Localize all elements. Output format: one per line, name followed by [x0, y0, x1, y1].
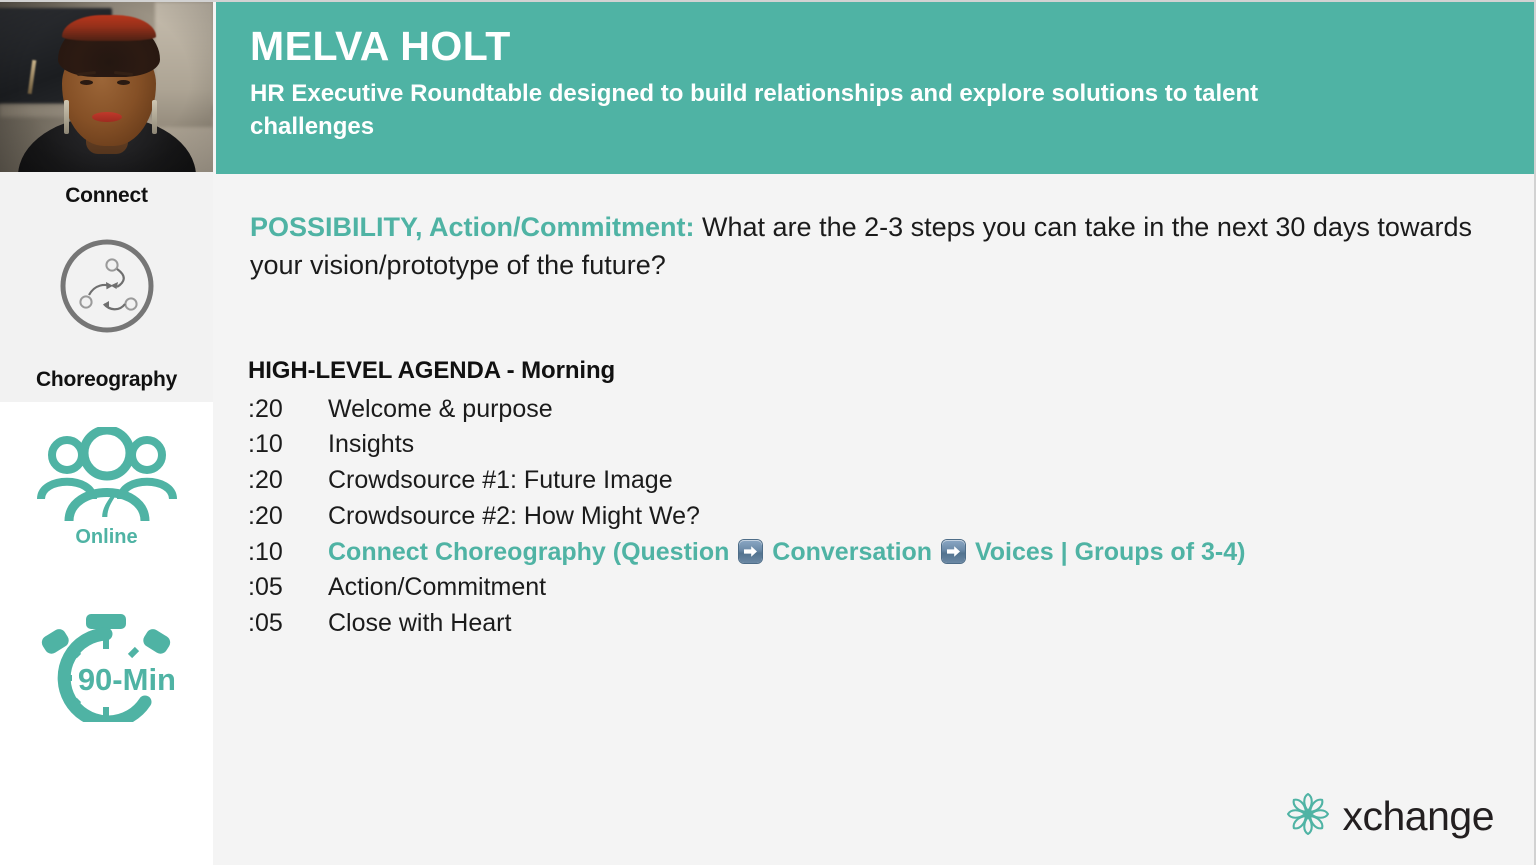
choreography-label: Choreography — [36, 368, 177, 392]
prompt-lead-label: POSSIBILITY, Action/Commitment: — [250, 212, 695, 242]
sidebar-connect-choreography-block: Connect Choreography — [0, 172, 213, 402]
sidebar-online-count-block: 7 Online — [0, 427, 213, 549]
agenda-row: :05Action/Commitment — [248, 570, 1534, 606]
agenda-row: :10Connect Choreography (Question Conver… — [248, 535, 1534, 571]
session-subtitle: HR Executive Roundtable designed to buil… — [250, 78, 1370, 143]
prompt-question: POSSIBILITY, Action/Commitment: What are… — [250, 208, 1495, 285]
agenda-row-time: :10 — [248, 427, 328, 463]
agenda-row-time: :20 — [248, 392, 328, 428]
right-arrow-icon — [739, 540, 762, 563]
right-arrow-icon — [942, 540, 965, 563]
agenda-row-label: Crowdsource #1: Future Image — [328, 463, 673, 499]
xchange-logo: xchange — [1286, 792, 1494, 841]
sidebar: Connect Choreography — [0, 2, 213, 865]
xchange-wordmark: xchange — [1342, 793, 1494, 840]
online-label: Online — [75, 526, 137, 549]
agenda-title: HIGH-LEVEL AGENDA - Morning — [248, 357, 1534, 385]
presenter-name-title: MELVA HOLT — [250, 24, 1504, 68]
agenda-row-label: Welcome & purpose — [328, 392, 553, 428]
slide-canvas: Connect Choreography — [0, 0, 1536, 865]
connect-label: Connect — [65, 184, 148, 208]
duration-value: 90-Min — [77, 662, 175, 697]
agenda-row: :05Close with Heart — [248, 606, 1534, 642]
agenda-row-time: :10 — [248, 535, 328, 571]
presenter-headshot-photo — [0, 2, 213, 172]
agenda-row-time: :20 — [248, 463, 328, 499]
agenda-row: :20Welcome & purpose — [248, 392, 1534, 428]
agenda-rows: :20Welcome & purpose:10Insights:20Crowds… — [248, 392, 1534, 642]
agenda-row-time: :20 — [248, 499, 328, 535]
xchange-pinwheel-logo-icon — [1286, 792, 1330, 841]
connect-choreography-circle-icon — [55, 234, 159, 343]
agenda-row-label: Close with Heart — [328, 606, 511, 642]
online-count-value: 7 — [96, 484, 116, 523]
people-group-icon: 7 — [27, 427, 187, 528]
main-content: POSSIBILITY, Action/Commitment: What are… — [216, 174, 1534, 865]
header-banner: MELVA HOLT HR Executive Roundtable desig… — [216, 2, 1534, 174]
agenda-row-label: Crowdsource #2: How Might We? — [328, 499, 700, 535]
sidebar-duration-block: 90-Min — [0, 612, 213, 727]
agenda-row-time: :05 — [248, 570, 328, 606]
agenda-row: :10Insights — [248, 427, 1534, 463]
agenda-block: HIGH-LEVEL AGENDA - Morning :20Welcome &… — [248, 357, 1534, 642]
agenda-row-label: Insights — [328, 427, 414, 463]
agenda-row-time: :05 — [248, 606, 328, 642]
agenda-row-label: Action/Commitment — [328, 570, 546, 606]
agenda-row: :20Crowdsource #1: Future Image — [248, 463, 1534, 499]
agenda-row: :20Crowdsource #2: How Might We? — [248, 499, 1534, 535]
agenda-row-label: Connect Choreography (Question Conversat… — [328, 535, 1245, 571]
stopwatch-icon: 90-Min — [24, 612, 190, 727]
